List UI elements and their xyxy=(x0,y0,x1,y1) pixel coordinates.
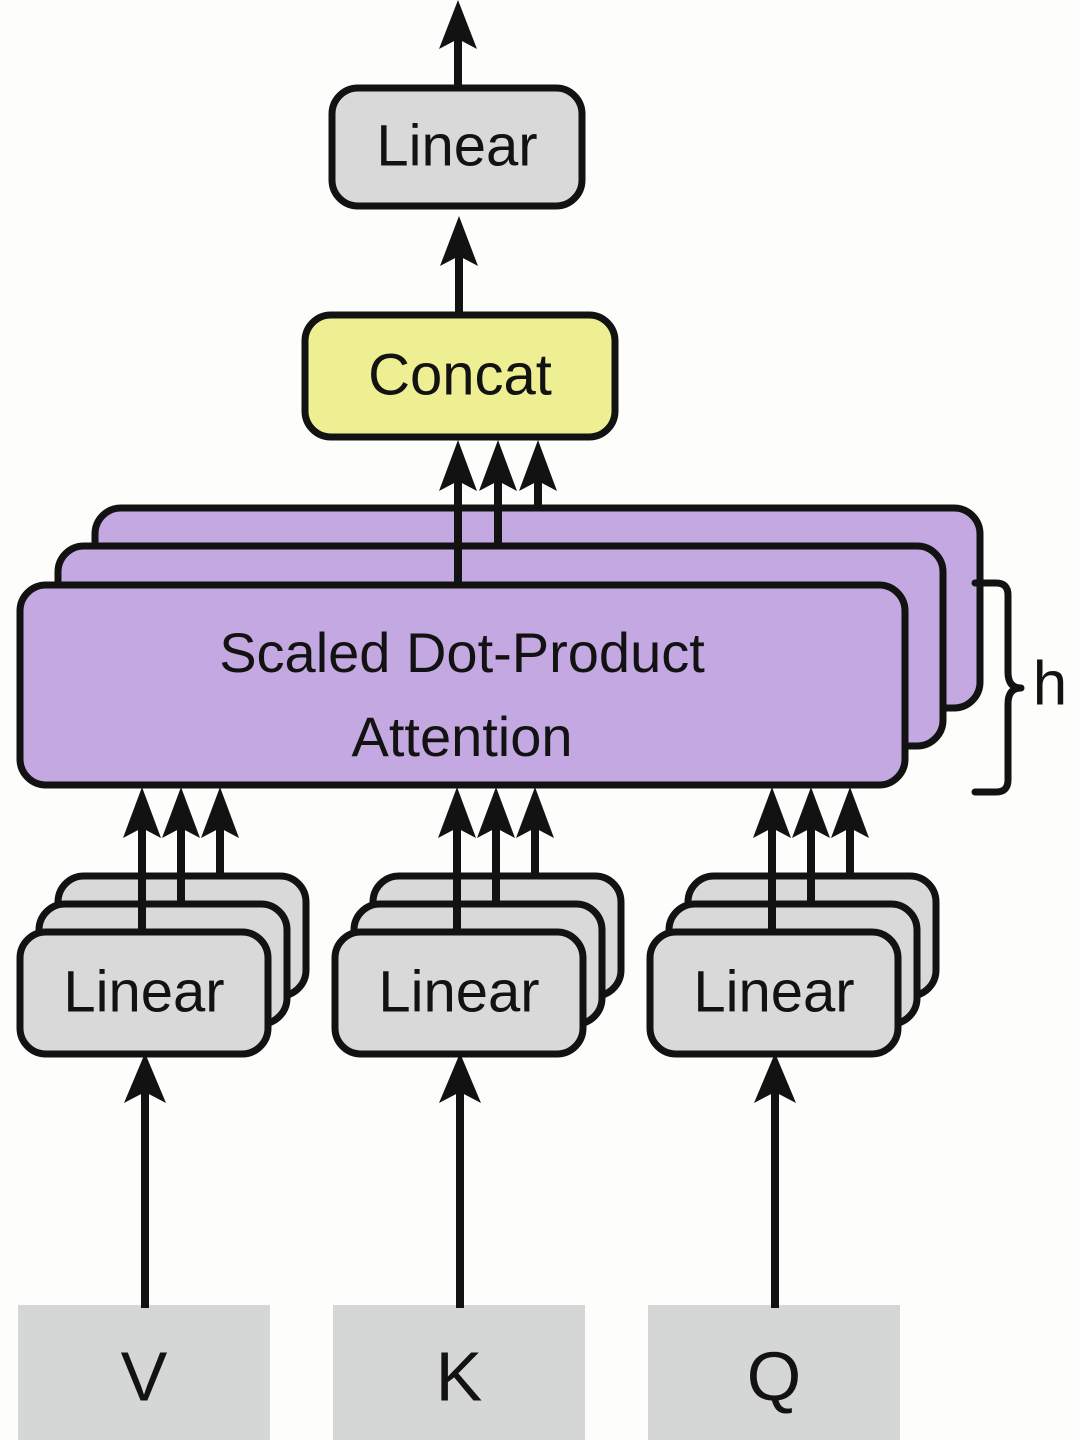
edge-output xyxy=(439,0,477,90)
concat-box-label: Concat xyxy=(368,342,552,407)
edge-q-to-linear xyxy=(754,1053,796,1308)
output-linear-box: Linear xyxy=(332,88,582,206)
projection-linear-stack-k: Linear xyxy=(335,876,621,1054)
scaled-dot-product-attention-stack: Scaled Dot-Product Attention xyxy=(20,508,980,785)
projection-linear-q-label: Linear xyxy=(693,959,854,1024)
diagram-canvas: V K Q Linear xyxy=(0,0,1080,1440)
concat-box: Concat xyxy=(305,315,615,437)
edge-k-to-linear xyxy=(439,1053,481,1308)
input-box-q-label: Q xyxy=(747,1337,801,1415)
attention-label-line1: Scaled Dot-Product xyxy=(219,621,705,684)
input-box-q: Q xyxy=(648,1305,900,1440)
projection-linear-v-label: Linear xyxy=(63,959,224,1024)
projection-linear-stack-q: Linear xyxy=(650,876,936,1054)
multi-head-attention-diagram: V K Q Linear xyxy=(0,0,1080,1440)
edge-concat-to-output-linear xyxy=(440,216,478,315)
attention-label-line2: Attention xyxy=(351,705,572,768)
input-box-k: K xyxy=(333,1305,585,1440)
head-count-brace-group: h xyxy=(975,583,1067,792)
input-box-v: V xyxy=(18,1305,270,1440)
output-linear-box-label: Linear xyxy=(376,113,537,178)
projection-linear-k-label: Linear xyxy=(378,959,539,1024)
edge-v-to-linear xyxy=(124,1053,166,1308)
head-count-label: h xyxy=(1033,649,1067,718)
input-box-v-label: V xyxy=(121,1337,168,1415)
projection-linear-stack-v: Linear xyxy=(20,876,306,1054)
input-box-k-label: K xyxy=(436,1337,483,1415)
